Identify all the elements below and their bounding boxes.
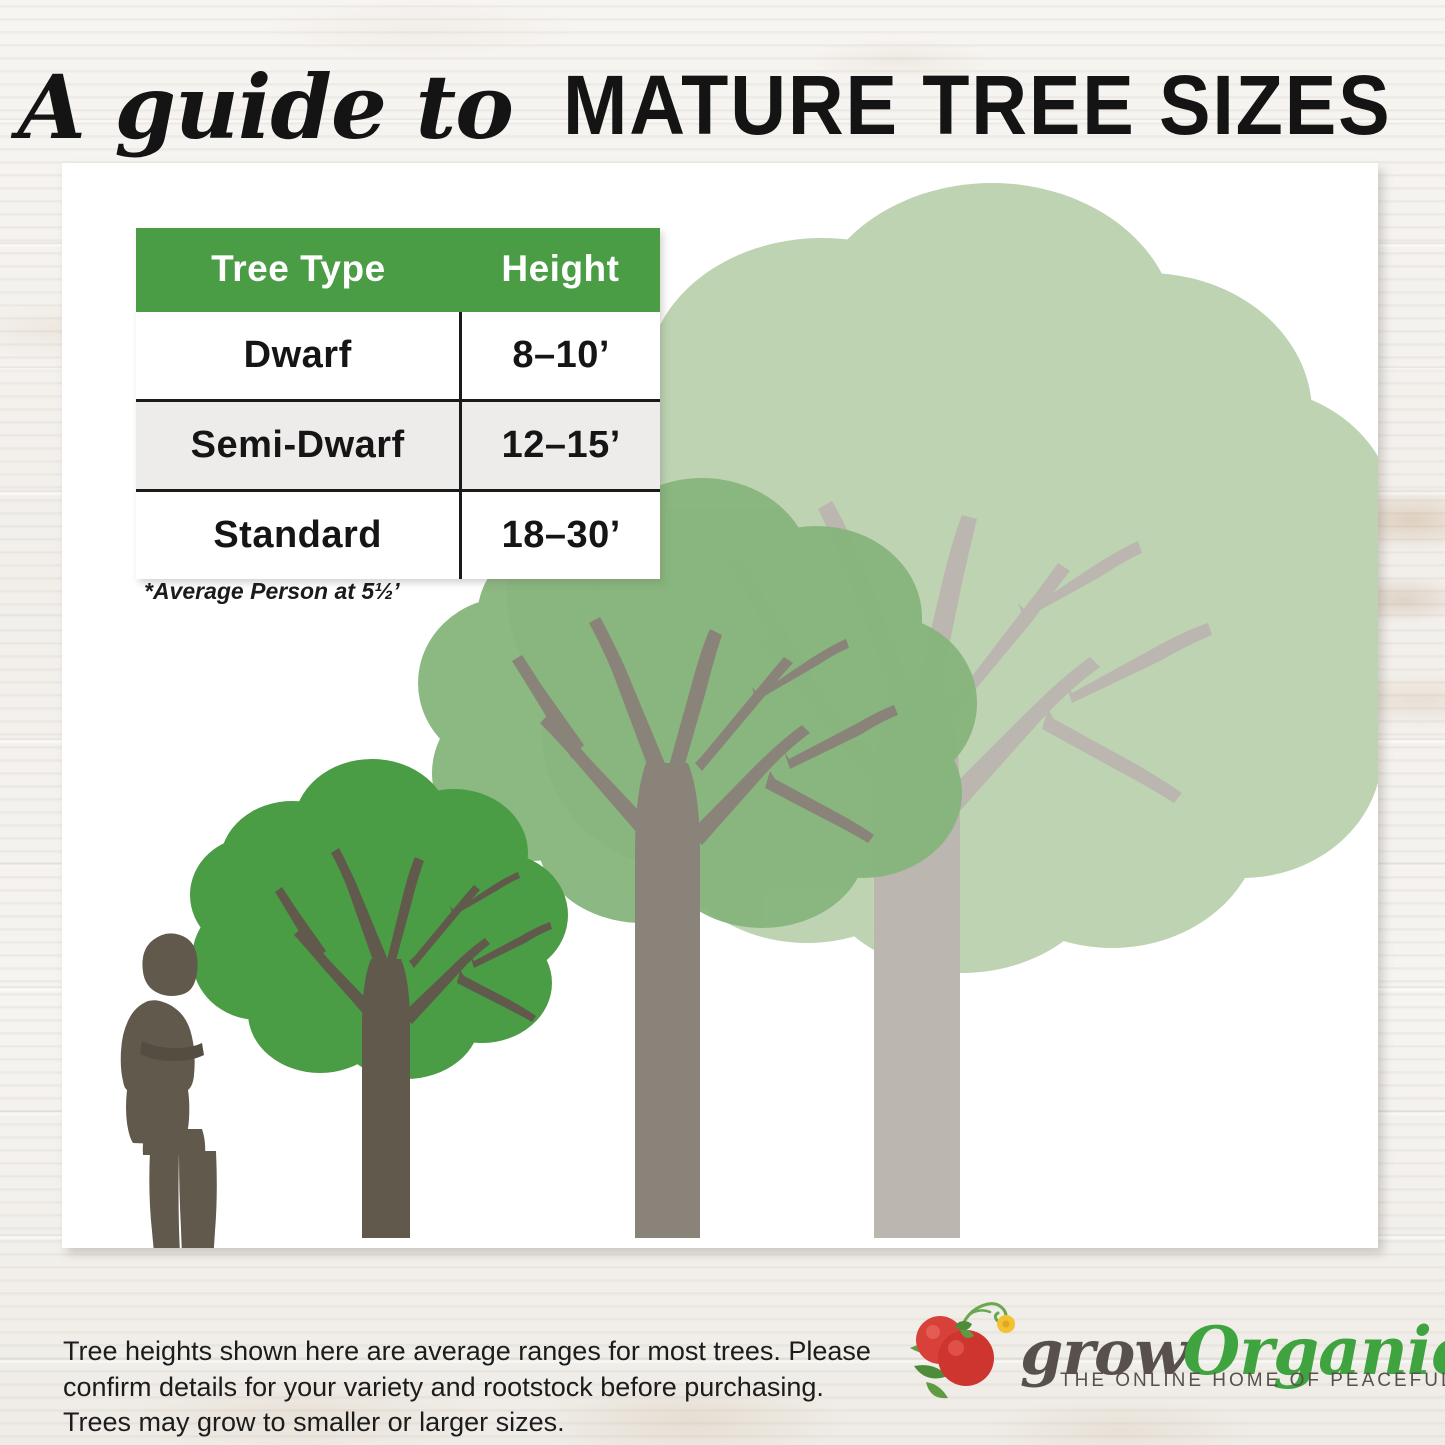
cell-tree-type-semi-dwarf: Semi-Dwarf <box>136 401 461 491</box>
tree-size-table: Tree Type Height Dwarf 8–10’ Semi-Dwarf … <box>136 228 660 579</box>
cell-tree-type-standard: Standard <box>136 491 461 580</box>
table-row: Standard 18–30’ <box>136 491 660 580</box>
grow-organic-logo[interactable]: growOrganic.COM THE ONLINE HOME OF PEACE… <box>900 1292 1400 1412</box>
cell-height-standard: 18–30’ <box>461 491 660 580</box>
logo-tagline: THE ONLINE HOME OF PEACEFUL VALLEY <box>1060 1370 1445 1392</box>
table-row: Semi-Dwarf 12–15’ <box>136 401 660 491</box>
infographic-card: Tree Type Height Dwarf 8–10’ Semi-Dwarf … <box>62 163 1378 1248</box>
column-header-tree-type: Tree Type <box>136 228 461 312</box>
table-footnote: *Average Person at 5½’ <box>144 578 400 605</box>
title-caps-text: MATURE TREE SIZES <box>563 50 1391 160</box>
cell-tree-type-dwarf: Dwarf <box>136 312 461 401</box>
cell-height-semi-dwarf: 12–15’ <box>461 401 660 491</box>
title-script-text: A guide to <box>18 55 513 159</box>
table-header-row: Tree Type Height <box>136 228 660 312</box>
dwarf-tree <box>190 759 568 1238</box>
cell-height-dwarf: 8–10’ <box>461 312 660 401</box>
footer-disclaimer: Tree heights shown here are average rang… <box>63 1334 873 1441</box>
table-row: Dwarf 8–10’ <box>136 312 660 401</box>
column-header-height: Height <box>461 228 660 312</box>
tomato-illustration-icon <box>900 1296 1030 1406</box>
page-title: A guide toMATURE TREE SIZES <box>0 48 1445 158</box>
